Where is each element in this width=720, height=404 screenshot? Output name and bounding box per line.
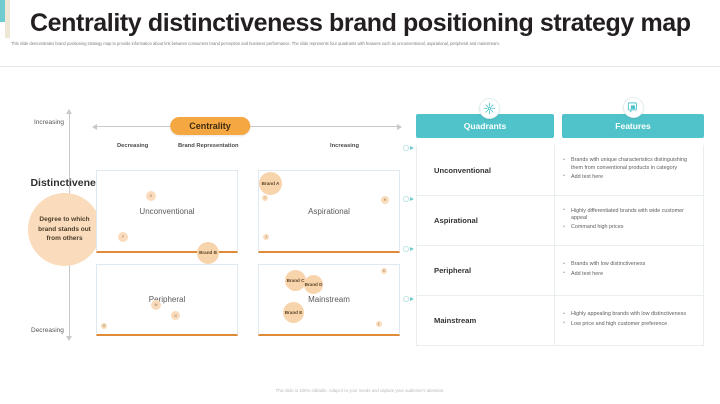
presentation-icon — [623, 97, 644, 118]
accent-bar-cream — [5, 0, 10, 38]
compass-icon — [479, 98, 500, 119]
feature-item: Low price and high customer preference — [563, 321, 686, 329]
data-bubble[interactable]: Brand B — [197, 242, 219, 264]
table-cell-quadrant: Peripheral — [417, 246, 555, 295]
feature-item: Add text here — [563, 174, 697, 182]
data-dot[interactable]: F — [118, 232, 128, 242]
slide-canvas: Centrality distinctiveness brand positio… — [0, 0, 720, 404]
feature-item: Brands with low distinctiveness — [563, 261, 645, 269]
row-marker-icon — [403, 145, 414, 151]
table-body: Unconventional Brands with unique charac… — [416, 145, 704, 346]
data-bubble[interactable]: Brand D — [304, 275, 323, 294]
feature-item: Highly appealing brands with low distinc… — [563, 311, 686, 319]
data-dot[interactable]: O — [101, 323, 107, 329]
data-dot[interactable]: N — [171, 311, 180, 320]
row-marker-icon — [403, 296, 414, 302]
x-axis-left-label: Decreasing — [117, 143, 148, 149]
table-cell-quadrant: Mainstream — [417, 296, 555, 345]
y-axis-down-arrow-icon — [66, 336, 72, 341]
table-cell-features: Highly appealing brands with low distinc… — [555, 296, 703, 345]
table-row[interactable]: Peripheral Brands with low distinctivene… — [417, 245, 703, 295]
x-axis-right-arrow-icon — [397, 124, 402, 130]
table-header-row: Quadrants Features — [416, 114, 704, 138]
feature-item: Brands with unique characteristics disti… — [563, 157, 697, 172]
feature-item: Command high prices — [563, 224, 697, 232]
brand-positioning-chart: Increasing Decreasing Centrality Decreas… — [18, 96, 408, 358]
row-marker-icon — [403, 246, 414, 252]
data-dot[interactable]: L — [376, 321, 382, 327]
x-axis-center-label: Brand Representation — [178, 143, 239, 149]
y-axis-up-arrow-icon — [66, 109, 72, 114]
feature-item: Add text here — [563, 271, 645, 279]
header-divider — [0, 66, 720, 67]
data-dot[interactable]: G — [146, 191, 156, 201]
table-row[interactable]: Mainstream Highly appealing brands with … — [417, 295, 703, 345]
quadrant-features-table: Quadrants Features Unconventional Brands… — [416, 114, 704, 346]
table-cell-quadrant: Unconventional — [417, 145, 555, 195]
table-cell-features: Brands with unique characteristics disti… — [555, 145, 703, 195]
table-cell-features: Highly differentiated brands with wide c… — [555, 196, 703, 245]
page-title: Centrality distinctiveness brand positio… — [30, 8, 700, 38]
quadrant-label: Aspirational — [308, 207, 350, 216]
table-cell-quadrant: Aspirational — [417, 196, 555, 245]
data-dot[interactable]: M — [151, 300, 161, 310]
quadrant-label: Unconventional — [139, 207, 194, 216]
y-axis-bottom-label: Decreasing — [31, 327, 64, 334]
quadrant-label: Mainstream — [308, 295, 350, 304]
x-axis-left-arrow-icon — [92, 124, 97, 130]
data-bubble[interactable]: Brand A — [259, 172, 282, 195]
row-marker-icon — [403, 196, 414, 202]
page-subtitle: This slide demonstrates brand positionin… — [11, 41, 705, 47]
table-row[interactable]: Aspirational Highly differentiated brand… — [417, 195, 703, 245]
distinctiveness-definition-circle: Degree to which brand stands out from ot… — [28, 193, 101, 266]
y-axis-top-label: Increasing — [34, 119, 64, 126]
quadrant-unconventional[interactable]: Unconventional — [96, 170, 238, 253]
x-axis-right-label: Increasing — [330, 143, 359, 149]
centrality-axis-badge: Centrality — [170, 117, 250, 135]
table-cell-features: Brands with low distinctiveness Add text… — [555, 246, 703, 295]
data-dot[interactable]: I — [262, 195, 268, 201]
data-bubble[interactable]: Brand C — [285, 270, 306, 291]
footer-note: This slide is 100% editable. Adapt it to… — [0, 388, 720, 393]
data-bubble[interactable]: Brand E — [283, 302, 304, 323]
quadrant-peripheral[interactable]: Peripheral — [96, 264, 238, 336]
table-row[interactable]: Unconventional Brands with unique charac… — [417, 145, 703, 195]
data-dot[interactable]: H — [381, 196, 389, 204]
data-dot[interactable]: J — [263, 234, 269, 240]
feature-item: Highly differentiated brands with wide c… — [563, 208, 697, 223]
data-dot[interactable]: K — [381, 268, 387, 274]
